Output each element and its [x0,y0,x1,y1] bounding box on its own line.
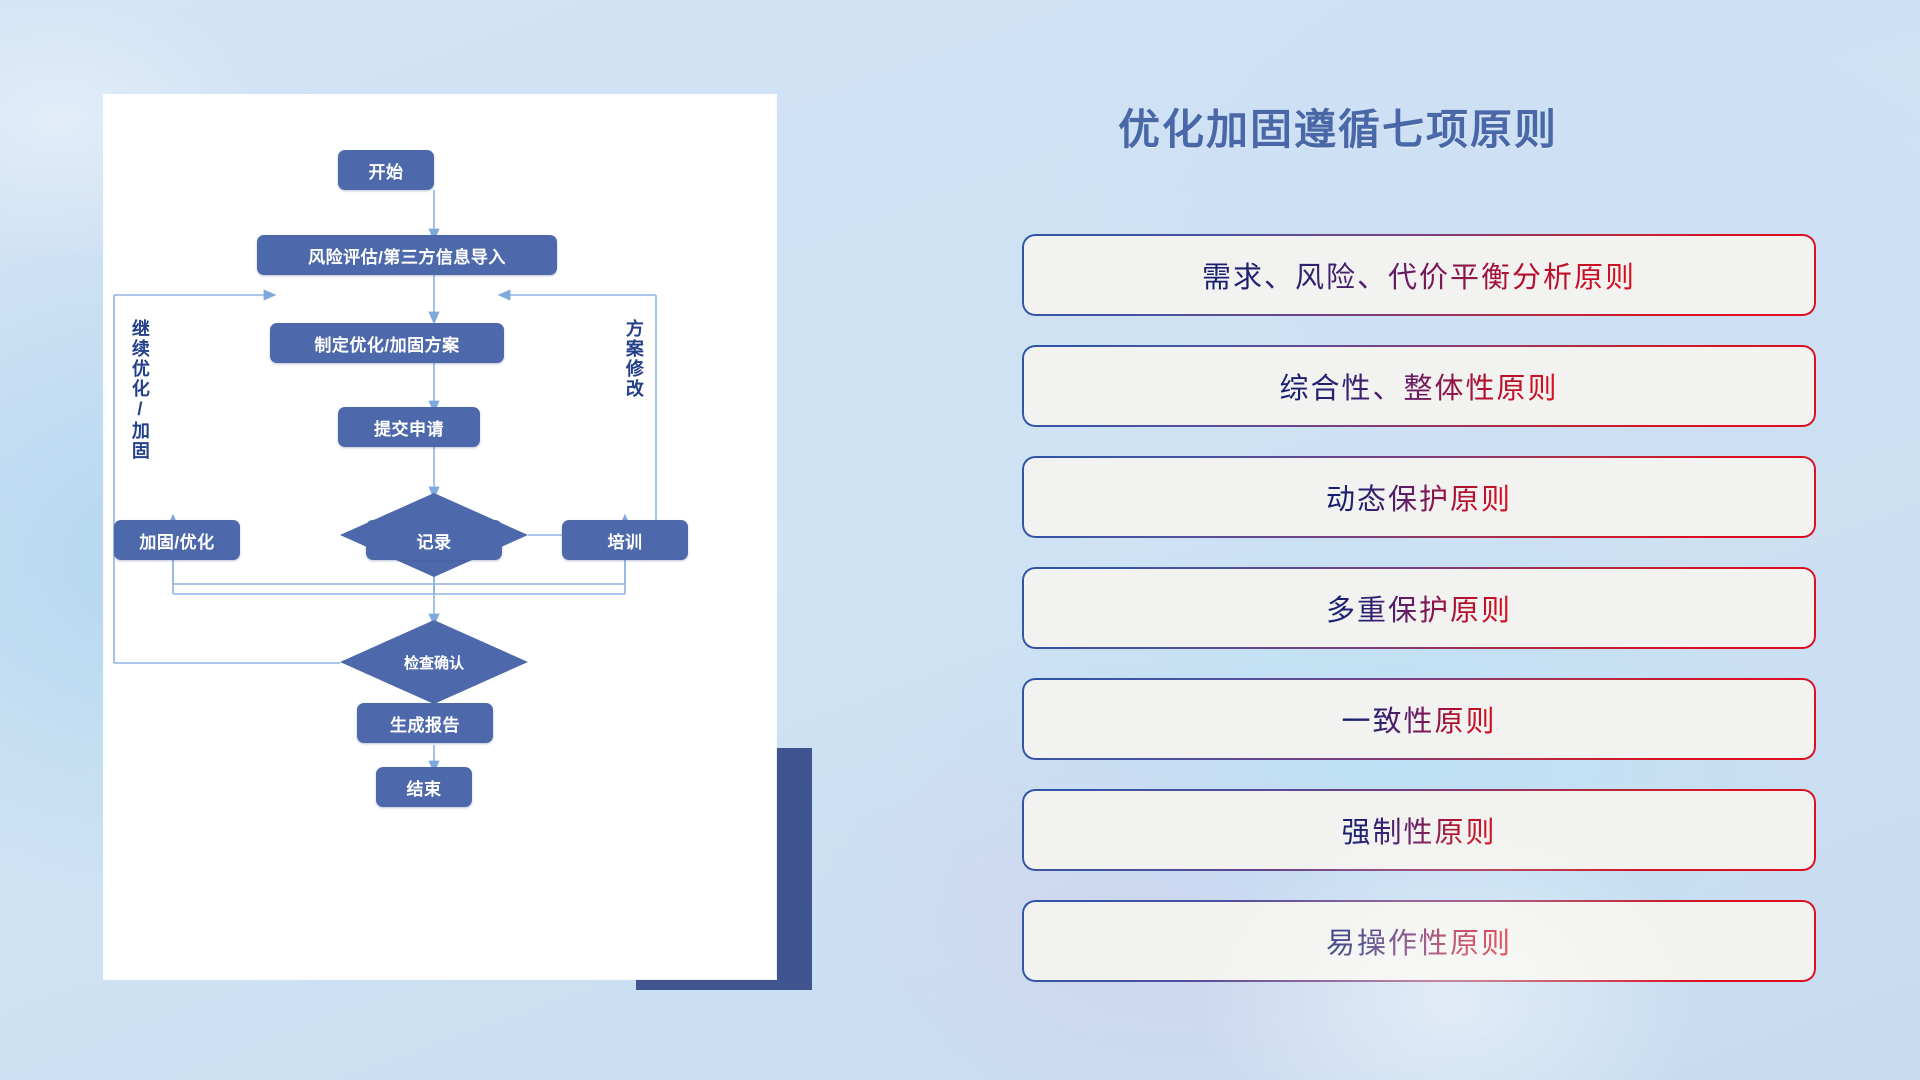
principle-label: 多重保护原则 [1326,587,1512,629]
flow-node-record[interactable]: 记录 [366,520,502,560]
flow-node-label: 制定优化/加固方案 [314,331,459,356]
flow-node-label: 结束 [407,775,442,800]
principles-list: 需求、风险、代价平衡分析原则 综合性、整体性原则 动态保护原则 多重保护原则 一… [1024,236,1814,1013]
principle-label: 一致性原则 [1341,698,1496,740]
principle-label: 易操作性原则 [1326,920,1512,962]
flow-edge-label-right: 方案修改 [624,319,643,399]
flow-node-label: 提交申请 [374,415,444,440]
flow-node-label: 记录 [417,528,452,553]
flow-node-end[interactable]: 结束 [376,767,472,807]
principle-label: 综合性、整体性原则 [1279,365,1558,407]
flow-node-check-confirm[interactable]: 检查确认 [340,620,528,704]
principle-card[interactable]: 多重保护原则 [1024,569,1814,647]
principle-card[interactable]: 需求、风险、代价平衡分析原则 [1024,236,1814,314]
principle-card[interactable]: 强制性原则 [1024,791,1814,869]
flow-node-assess[interactable]: 风险评估/第三方信息导入 [257,235,557,275]
principle-label: 强制性原则 [1341,809,1496,851]
principle-label: 需求、风险、代价平衡分析原则 [1202,254,1636,296]
principle-card[interactable]: 易操作性原则 [1024,902,1814,980]
flow-node-label: 开始 [369,158,404,183]
flow-node-start[interactable]: 开始 [338,150,434,190]
page-title: 优化加固遵循七项原则 [1018,96,1658,157]
principle-card[interactable]: 综合性、整体性原则 [1024,347,1814,425]
flow-node-submit[interactable]: 提交申请 [338,407,480,447]
flow-node-label: 检查确认 [404,652,464,673]
principle-label: 动态保护原则 [1326,476,1512,518]
principle-card[interactable]: 动态保护原则 [1024,458,1814,536]
principle-card[interactable]: 一致性原则 [1024,680,1814,758]
flow-node-label: 生成报告 [390,711,460,736]
flow-node-training[interactable]: 培训 [562,520,688,560]
flow-node-plan[interactable]: 制定优化/加固方案 [270,323,504,363]
flow-node-report[interactable]: 生成报告 [357,703,493,743]
flow-node-label: 培训 [608,528,643,553]
flow-node-reinforce[interactable]: 加固/优化 [114,520,240,560]
flow-node-label: 风险评估/第三方信息导入 [308,243,506,268]
slide-root: 开始 风险评估/第三方信息导入 制定优化/加固方案 提交申请 业主方确认 加固/… [0,0,1920,1080]
flowchart-card: 开始 风险评估/第三方信息导入 制定优化/加固方案 提交申请 业主方确认 加固/… [104,95,776,979]
flow-edge-label-left: 继续优化/加固 [130,319,149,461]
flow-node-label: 加固/优化 [139,528,214,553]
